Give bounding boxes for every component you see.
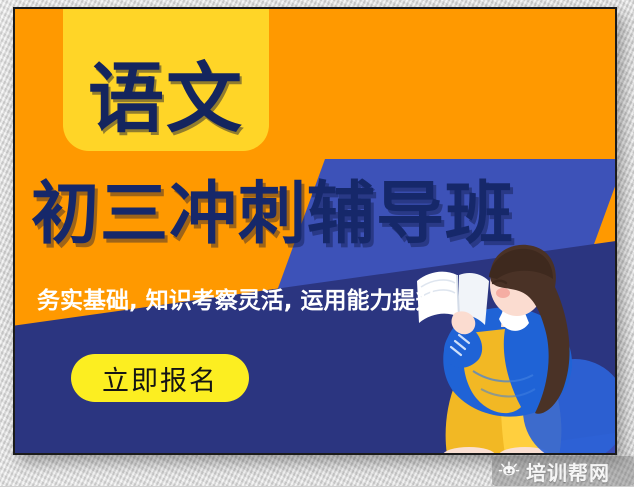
subject-badge-label: 语文 <box>88 61 244 137</box>
sunburst-face-icon <box>498 460 520 482</box>
site-watermark: 培训帮网 <box>492 456 634 486</box>
enroll-now-label: 立即报名 <box>102 359 218 398</box>
watermark-text: 培训帮网 <box>526 457 610 486</box>
subject-badge: 语文 <box>63 7 269 151</box>
promo-poster-card: 语文 <box>13 7 617 455</box>
subtitle-text: 务实基础, 知识考察灵活, 运用能力提升 <box>37 288 439 316</box>
woman-reading-illustration <box>407 241 617 455</box>
page-title: 初三冲刺辅导班 <box>31 181 514 249</box>
enroll-now-button[interactable]: 立即报名 <box>71 354 249 402</box>
